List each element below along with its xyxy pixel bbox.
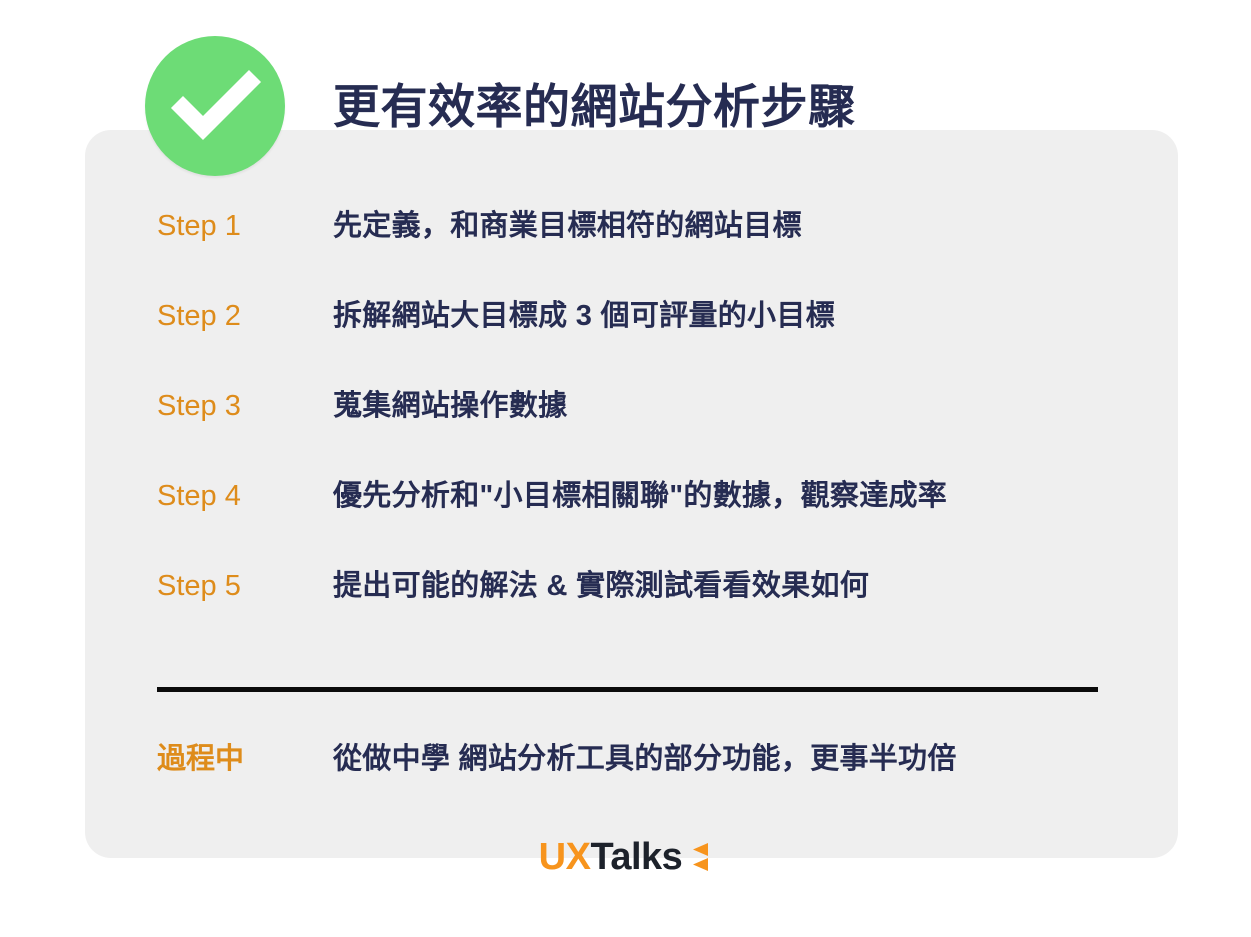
list-item: Step 4 優先分析和"小目標相關聯"的數據，觀察達成率 [157,482,1117,572]
step-label: Step 3 [157,392,333,421]
step-description: 提出可能的解法 & 實際測試看看效果如何 [333,572,869,601]
step-label: Step 4 [157,482,333,511]
brand-logo: UX Talks [0,838,1251,876]
step-description: 優先分析和"小目標相關聯"的數據，觀察達成率 [333,482,947,511]
step-description: 先定義，和商業目標相符的網站目標 [333,212,802,241]
list-item: Step 3 蒐集網站操作數據 [157,392,1117,482]
logo-text-ux: UX [539,838,591,876]
page-title: 更有效率的網站分析步驟 [333,83,856,130]
section-divider [157,687,1098,692]
step-label: Step 5 [157,572,333,601]
list-item: Step 5 提出可能的解法 & 實際測試看看效果如何 [157,572,1117,662]
list-item: Step 1 先定義，和商業目標相符的網站目標 [157,212,1117,302]
step-description: 拆解網站大目標成 3 個可評量的小目標 [333,302,835,331]
header: 更有效率的網站分析步驟 [145,36,856,176]
summary-row: 過程中 從做中學 網站分析工具的部分功能，更事半功倍 [157,745,1117,774]
summary-label: 過程中 [157,745,333,774]
check-circle-icon [145,36,285,176]
double-triangle-mark-icon [686,841,712,873]
logo-text-talks: Talks [590,838,682,876]
step-description: 蒐集網站操作數據 [333,392,567,421]
steps-list: Step 1 先定義，和商業目標相符的網站目標 Step 2 拆解網站大目標成 … [157,212,1117,662]
infographic-canvas: 更有效率的網站分析步驟 Step 1 先定義，和商業目標相符的網站目標 Step… [0,0,1251,937]
step-label: Step 1 [157,212,333,241]
summary-description: 從做中學 網站分析工具的部分功能，更事半功倍 [333,745,957,774]
list-item: Step 2 拆解網站大目標成 3 個可評量的小目標 [157,302,1117,392]
step-label: Step 2 [157,302,333,331]
